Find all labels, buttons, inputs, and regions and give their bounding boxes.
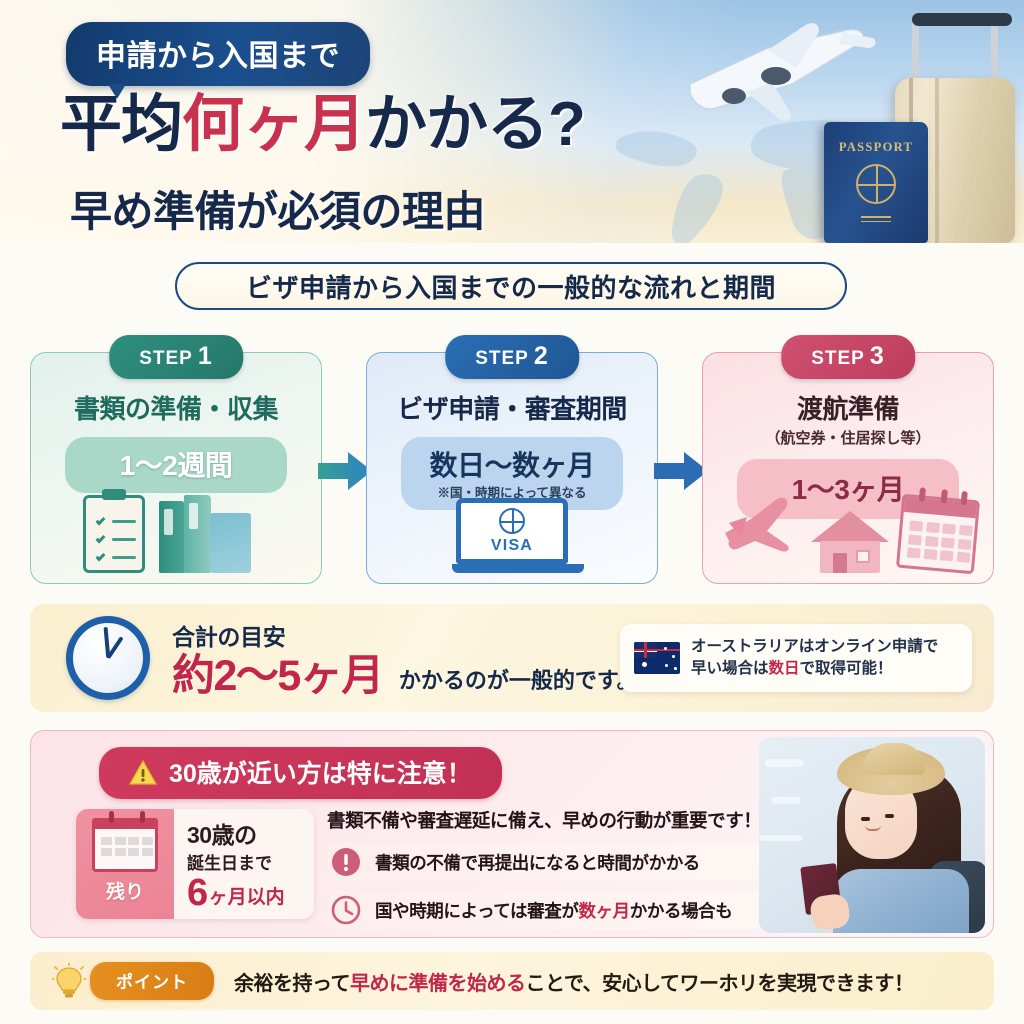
clipboard-checklist-icon [83,495,145,573]
passport-label: PASSPORT [824,140,928,155]
step-3-subtitle: （航空券・住居探し等） [703,427,993,448]
australia-flag-icon [634,642,680,674]
clock-icon [66,616,150,700]
calendar-right-panel: 30歳の 誕生日まで 6 ヶ月以内 [174,809,314,919]
point-text: 余裕を持って早めに準備を始めることで、安心してワーホリを実現できます！ [234,967,914,996]
step-3-icons [703,483,993,575]
section-title-pill: ビザ申請から入国までの一般的な流れと期間 [175,262,847,310]
traveler-woman-photo [759,737,985,933]
step-card-1: STEP1 書類の準備・収集 1〜2週間 [30,352,322,584]
globe-icon [499,508,525,534]
clock-outline-icon [331,895,361,925]
exclamation-circle-icon [331,847,361,877]
passport-lines [861,216,891,222]
warning-triangle-icon [129,760,157,785]
step-2-duration: 数日〜数ヶ月 [401,444,623,484]
step-1-badge: STEP1 [109,335,243,379]
header-hero: PASSPORT 申請から入国まで 平均何ヶ月かかる? 早め準備が必須の理由 [0,0,1024,243]
calendar-icon [896,494,980,575]
step-2-title: ビザ申請・審査期間 [367,389,657,426]
point-bar: ポイント 余裕を持って早めに準備を始めることで、安心してワーホリを実現できます！ [30,952,994,1010]
total-tail-text: かかるのが一般的です。 [399,663,639,698]
step-2-icons: VISA [367,483,657,575]
passport-photo: PASSPORT [824,122,928,243]
total-summary-box: 合計の目安 約2〜5ヶ月 かかるのが一般的です。 オーストラリアはオンライン申請… [30,604,994,712]
deadline-line-1: 30歳の [187,816,314,850]
laptop-visa-icon: VISA [452,498,572,573]
step-card-2: STEP2 ビザ申請・審査期間 数日〜数ヶ月 ※国・時期によって異なる VISA [366,352,658,584]
step-2-badge: STEP2 [445,335,579,379]
warning-bullet-1-text: 書類の不備で再提出になると時間がかかる [375,850,700,875]
point-badge: ポイント [90,962,214,1000]
lightbulb-icon [52,963,86,999]
infographic-canvas: PASSPORT 申請から入国まで 平均何ヶ月かかる? 早め準備が必須の理由 ビ… [0,0,1024,1024]
step-1-duration: 1〜2週間 [65,444,287,484]
steps-row: STEP1 書類の準備・収集 1〜2週間 [0,332,1024,584]
step-1-title: 書類の準備・収集 [31,389,321,426]
step-3-badge: STEP3 [781,335,915,379]
header-ribbon: 申請から入国まで [66,22,370,86]
total-text-group: 合計の目安 約2〜5ヶ月 かかるのが一般的です。 [172,618,639,698]
remaining-label: 残り [106,877,144,904]
page-subtitle: 早め準備が必須の理由 [70,178,485,239]
deadline-line-2: 誕生日まで [187,849,314,874]
deadline-unit: ヶ月以内 [209,882,285,912]
page-title: 平均何ヶ月かかる? [60,94,585,156]
deadline-calendar-card: 残り 30歳の 誕生日まで 6 ヶ月以内 [76,809,314,919]
australia-note-card: オーストラリアはオンライン申請で 早い場合は数日で取得可能！ [620,624,972,692]
step-1-icons [31,483,321,575]
warning-lead-text: 書類不備や審査遅延に備え、早めの行動が重要です！ [327,807,805,833]
airplane-icon [721,493,805,553]
deadline-value: 6 [187,874,207,912]
step-card-3: STEP3 渡航準備 （航空券・住居探し等） 1〜3ヶ月 [702,352,994,584]
warning-bullet-1: 書類の不備で再提出になると時間がかかる [327,843,805,881]
passport-globe-icon [856,164,896,204]
warning-bullet-2-text: 国や時期によっては審査が数ヶ月かかる場合も [375,898,732,923]
suitcase-handle [912,18,998,80]
warning-badge-text: 30歳が近い方は特に注意！ [169,754,472,790]
warning-bullet-2: 国や時期によっては審査が数ヶ月かかる場合も [327,891,805,929]
step-3-title: 渡航準備 [703,389,993,426]
binders-icon [159,493,251,573]
warning-bullets-group: 書類不備や審査遅延に備え、早めの行動が重要です！ 書類の不備で再提出になると時間… [327,807,805,929]
house-icon [811,511,889,573]
total-value: 約2〜5ヶ月 [172,655,383,698]
calendar-left-panel: 残り [76,809,174,919]
warning-section: 30歳が近い方は特に注意！ 残り 30歳の 誕生日まで 6 ヶ月以内 [30,730,994,938]
total-label: 合計の目安 [172,618,639,652]
australia-note-text: オーストラリアはオンライン申請で 早い場合は数日で取得可能！ [691,636,938,681]
visa-label: VISA [491,537,533,555]
airplane-photo [672,14,892,134]
warning-badge: 30歳が近い方は特に注意！ [99,747,502,799]
calendar-icon [92,818,158,872]
